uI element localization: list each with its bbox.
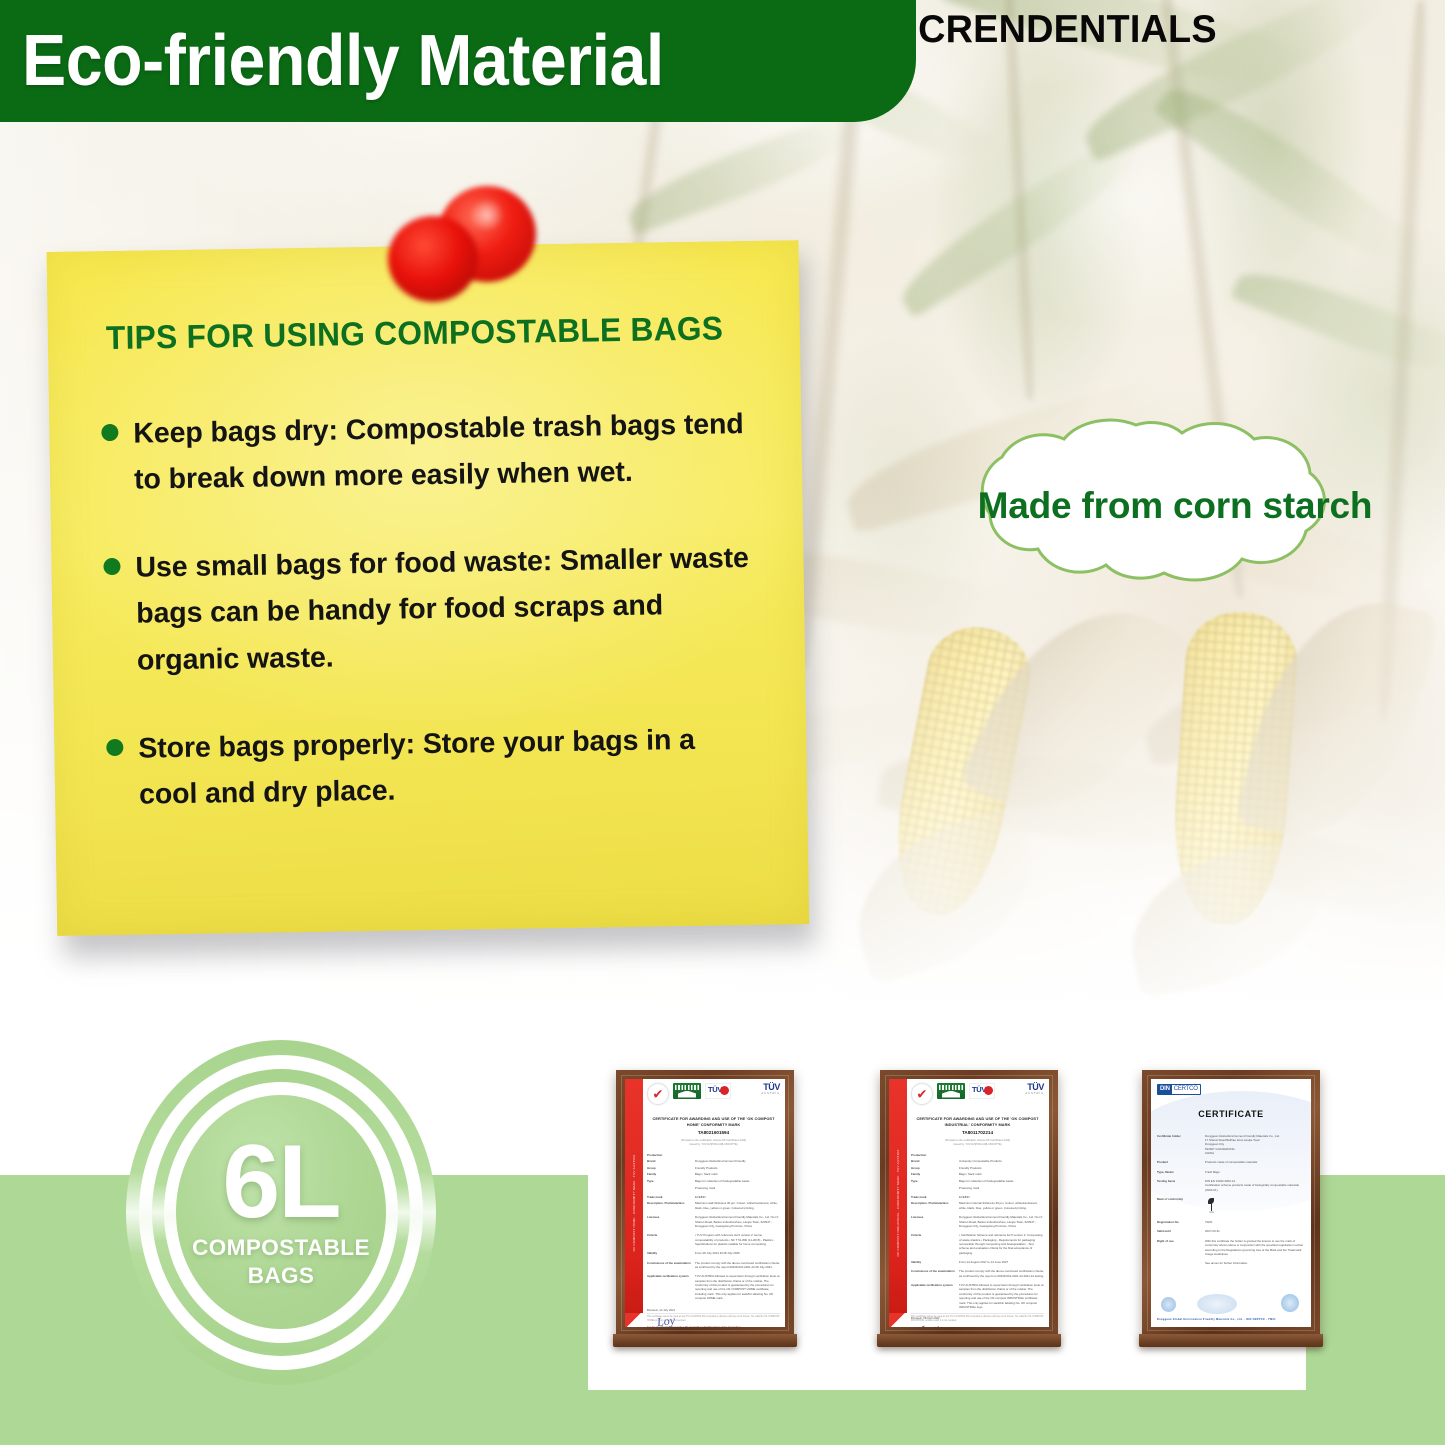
- field-key: Applicable verification system: [911, 1283, 955, 1309]
- field-key: Registration No.: [1157, 1220, 1201, 1224]
- tip-text: Keep bags dry: Compostable trash bags te…: [133, 408, 744, 496]
- logo-house: [942, 1091, 960, 1098]
- table-row: Description / ParticularitiesMaximum int…: [911, 1201, 1044, 1210]
- certificate-meta: (Pursuant to the certification scheme OK…: [647, 1139, 780, 1147]
- field-key: Type, Model: [1157, 1170, 1201, 1174]
- certificate-meta-line2: Issued by: TUV AUSTRIA (AIB-VINCOTTE): [911, 1143, 1044, 1147]
- tuv-brand-mark: TÜV AUSTRIA: [1025, 1083, 1044, 1096]
- tuv-brand-sub: AUSTRIA: [1025, 1092, 1044, 1096]
- din-round-seal-icon: [1281, 1294, 1299, 1312]
- certificate-footer: Dongguan Global Environment Friendly Mat…: [1157, 1318, 1305, 1321]
- stripe-corner: [625, 1313, 643, 1327]
- field-value: Products made of compostable materials: [1205, 1160, 1305, 1164]
- field-value: 7W21: [1205, 1220, 1305, 1224]
- table-row: Criteria• TUV Program with reference lis…: [647, 1233, 780, 1246]
- table-row: BrandDongguan Global Environment Friendl…: [647, 1159, 780, 1163]
- certificate-seals: [1157, 1288, 1305, 1314]
- header-banner: Eco-friendly Material: [0, 0, 916, 122]
- table-row: Trade markEVEBIO: [647, 1195, 780, 1199]
- certificate-number: TA8011702214: [911, 1130, 1044, 1137]
- certificate-logos: TÜV: [647, 1083, 780, 1105]
- din-certco-logo-icon: DIN CERTCO: [1157, 1084, 1201, 1095]
- field-key: Description / Particularities: [647, 1201, 691, 1210]
- certificate-fields: Certificate holderDongguan Global Enviro…: [1157, 1134, 1305, 1265]
- field-value: Bags for collection of biodegradable was…: [695, 1179, 780, 1183]
- certificate-heading: CERTIFICATE: [1157, 1108, 1305, 1122]
- frame-base: [613, 1334, 797, 1347]
- field-value: DIN EN 13432:2000-12 Certification schem…: [1205, 1179, 1305, 1192]
- logo-bars: [675, 1085, 699, 1090]
- certificate-side-stripe: OK COMPOST INDUSTRIAL · CONFORMITY MARK …: [889, 1079, 907, 1327]
- field-value: With this certificate the holder is gran…: [1205, 1239, 1305, 1265]
- certificate-page: DIN CERTCO CERTIFICATE Certificate holde…: [1151, 1079, 1311, 1327]
- field-key: Mark of conformity: [1157, 1197, 1201, 1215]
- logo-bars: [939, 1085, 963, 1090]
- field-value: 7W21: [1205, 1197, 1305, 1215]
- certificate-content: DIN CERTCO CERTIFICATE Certificate holde…: [1151, 1079, 1311, 1272]
- field-value: Bags / Sack mark: [959, 1172, 1044, 1176]
- field-key: Trade mark: [647, 1195, 691, 1199]
- table-row: Applicable verification systemTUV AUSTRI…: [911, 1283, 1044, 1309]
- certificate-content: TÜV TÜV AUSTRIA CERTIFICATE FOR AWARDING…: [643, 1079, 785, 1327]
- tuv-brand-letters: TÜV: [1025, 1083, 1044, 1092]
- field-value: 2027-03-31: [1205, 1229, 1305, 1233]
- field-key: Production: [911, 1153, 955, 1157]
- table-row: ValidityFrom 28 July 2021 till 28 July 2…: [647, 1251, 780, 1255]
- field-key: Trade mark: [911, 1195, 955, 1199]
- certificate-fields: Production BrandDongguan Global Environm…: [647, 1153, 780, 1301]
- table-row: Registration No.7W21: [1157, 1220, 1305, 1224]
- stripe-corner: [889, 1313, 907, 1327]
- table-row: Conclusions of the examinationThe produc…: [911, 1269, 1044, 1278]
- field-value: TUV AUSTRIA followed to supervision thro…: [695, 1274, 780, 1300]
- certificate-din-certco[interactable]: DIN CERTCO CERTIFICATE Certificate holde…: [1142, 1070, 1320, 1336]
- field-key: Conclusions of the examination: [647, 1261, 691, 1270]
- field-value: From 14 August 2017 to 14 June 2027: [959, 1260, 1044, 1264]
- field-key: Licensee: [647, 1215, 691, 1228]
- field-key: Right of use: [1157, 1239, 1201, 1265]
- tuv-brand-sub: AUSTRIA: [761, 1092, 780, 1096]
- certificate-footer: This certificate cannot be used as any T…: [647, 1313, 780, 1323]
- field-value: EVEBIO: [959, 1195, 1044, 1199]
- field-value: Friendly Products: [695, 1166, 780, 1170]
- bullet-icon: [103, 558, 120, 575]
- tip-text: Use small bags for food waste: Smaller w…: [135, 542, 749, 676]
- field-key: Criteria: [911, 1233, 955, 1255]
- table-row: TypeBags for collection of biodegradable…: [647, 1179, 780, 1183]
- bullet-icon: [101, 424, 118, 441]
- note-title: TIPS FOR USING COMPOSTABLE BAGS: [106, 309, 729, 357]
- certificate-fields: Production BrandUniversity Compostable P…: [911, 1153, 1044, 1309]
- ok-compost-logo-icon: [937, 1083, 965, 1099]
- pushpin-highlight: [468, 200, 506, 230]
- field-key: Applicable verification system: [647, 1274, 691, 1300]
- field-key: Type: [911, 1179, 955, 1183]
- certificate-frame: DIN CERTCO CERTIFICATE Certificate holde…: [1142, 1070, 1320, 1336]
- badge-core: 6L COMPOSTABLE BAGS: [176, 1095, 386, 1329]
- badge-size-label: 6L: [222, 1135, 339, 1231]
- field-value: TUV AUSTRIA followed to supervision thro…: [959, 1283, 1044, 1309]
- field-value: Dongguan Global Environment Friendly Mat…: [1205, 1134, 1305, 1156]
- table-row: Producing mark: [911, 1186, 1044, 1190]
- din-logo-left: DIN: [1158, 1085, 1172, 1094]
- table-row: GroupFriendly Products: [647, 1166, 780, 1170]
- stripe-text: OK COMPOST HOME · CONFORMITY MARK · TUV …: [632, 1155, 636, 1252]
- tip-text: Store bags properly: Store your bags in …: [138, 724, 695, 811]
- table-row: TypeBags for collection of biodegradable…: [911, 1179, 1044, 1183]
- certificate-ok-compost-home[interactable]: OK COMPOST HOME · CONFORMITY MARK · TUV …: [616, 1070, 794, 1336]
- certificate-meta: (Pursuant to the certification scheme OK…: [911, 1139, 1044, 1147]
- table-row: Conclusions of the examinationThe produc…: [647, 1261, 780, 1270]
- field-value: • Certification Scheme and reference lis…: [959, 1233, 1044, 1255]
- field-key: Type: [647, 1179, 691, 1183]
- tuv-dot: [720, 1086, 729, 1095]
- field-value: From 28 July 2021 till 28 July 2026: [695, 1251, 780, 1255]
- table-row: LicenseeDongguan Global Environment Frie…: [647, 1215, 780, 1228]
- table-row: Trade markEVEBIO: [911, 1195, 1044, 1199]
- table-row: Criteria• Certification Scheme and refer…: [911, 1233, 1044, 1255]
- tuv-dot: [984, 1086, 993, 1095]
- tuv-brand-mark: TÜV AUSTRIA: [761, 1083, 780, 1096]
- certificate-side-stripe: OK COMPOST HOME · CONFORMITY MARK · TUV …: [625, 1079, 643, 1327]
- certificate-heading: CERTIFICATE FOR AWARDING AND USE OF THE …: [911, 1116, 1044, 1127]
- pushpin-icon: [380, 178, 540, 308]
- certificate-page: OK COMPOST INDUSTRIAL · CONFORMITY MARK …: [889, 1079, 1049, 1327]
- field-value: Trash Bags: [1205, 1170, 1305, 1174]
- din-logo-right: CERTCO: [1172, 1085, 1200, 1094]
- table-row: Valid until2027-03-31: [1157, 1229, 1305, 1233]
- certificate-footer: This certificate cannot be used as any T…: [911, 1313, 1044, 1323]
- stripe-text: OK COMPOST INDUSTRIAL · CONFORMITY MARK …: [896, 1150, 900, 1257]
- vincotte-check-logo-icon: [647, 1083, 669, 1105]
- field-key: [911, 1186, 955, 1190]
- field-value: The product comply with the above mentio…: [959, 1269, 1044, 1278]
- frame-base: [1139, 1334, 1323, 1347]
- field-value: EVEBIO: [695, 1195, 780, 1199]
- badge-subtitle: COMPOSTABLE BAGS: [192, 1234, 370, 1289]
- field-value: [695, 1153, 780, 1157]
- list-item: Keep bags dry: Compostable trash bags te…: [93, 401, 754, 504]
- note-paper: TIPS FOR USING COMPOSTABLE BAGS Keep bag…: [47, 240, 810, 936]
- list-item: Store bags properly: Store your bags in …: [98, 716, 759, 819]
- field-key: Product: [1157, 1160, 1201, 1164]
- corn-starch-callout: Made from corn starch: [922, 418, 1428, 590]
- list-item: Use small bags for food waste: Smaller w…: [95, 535, 757, 684]
- certificate-frame: OK COMPOST INDUSTRIAL · CONFORMITY MARK …: [880, 1070, 1058, 1336]
- field-key: Brand: [647, 1159, 691, 1163]
- tuv-austria-logo-icon: TÜV: [705, 1083, 731, 1099]
- field-key: Conclusions of the examination: [911, 1269, 955, 1278]
- table-row: Producing mark: [647, 1186, 780, 1190]
- logo-house: [678, 1091, 696, 1098]
- certificate-heading: CERTIFICATE FOR AWARDING AND USE OF THE …: [647, 1116, 780, 1127]
- table-row: Right of useWith this certificate the ho…: [1157, 1239, 1305, 1265]
- page-title: Eco-friendly Material: [22, 25, 664, 97]
- field-value: Dongguan Global Environment Friendly: [695, 1159, 780, 1163]
- table-row: GroupFriendly Products: [911, 1166, 1044, 1170]
- field-value: The product comply with the above mentio…: [695, 1261, 780, 1270]
- field-value: University Compostable Products: [959, 1159, 1044, 1163]
- field-key: Certificate holder: [1157, 1134, 1201, 1156]
- field-value: Producing mark: [959, 1186, 1044, 1190]
- field-value: Friendly Products: [959, 1166, 1044, 1170]
- field-key: Licensee: [911, 1215, 955, 1228]
- tips-list: Keep bags dry: Compostable trash bags te…: [93, 401, 761, 818]
- frame-base: [877, 1334, 1061, 1347]
- table-row: LicenseeDongguan Global Environment Frie…: [911, 1215, 1044, 1228]
- seedling-label: 7W21: [1205, 1212, 1218, 1215]
- field-key: Family: [647, 1172, 691, 1176]
- capacity-badge: 6L COMPOSTABLE BAGS: [126, 1040, 436, 1385]
- field-key: Production: [647, 1153, 691, 1157]
- field-value: Dongguan Global Environment Friendly Mat…: [959, 1215, 1044, 1228]
- certificate-ok-compost-industrial[interactable]: OK COMPOST INDUSTRIAL · CONFORMITY MARK …: [880, 1070, 1058, 1336]
- table-row: Description / ParticularitiesMaximum wal…: [647, 1201, 780, 1210]
- tuv-brand-letters: TÜV: [761, 1083, 780, 1092]
- field-value: Bags / Sack mark: [695, 1172, 780, 1176]
- field-value: Maximum wall thickness 30 µm. Colour: wh…: [695, 1201, 780, 1210]
- seedling-stem: [1211, 1203, 1212, 1211]
- field-value: • TUV Program with reference list 5 vers…: [695, 1233, 780, 1246]
- field-key: Group: [647, 1166, 691, 1170]
- field-value: Maximum internal thickness 30 µm. Colour…: [959, 1201, 1044, 1210]
- certificate-content: TÜV TÜV AUSTRIA CERTIFICATE FOR AWARDING…: [907, 1079, 1049, 1327]
- table-row: FamilyBags / Sack mark: [647, 1172, 780, 1176]
- table-row: Type, ModelTrash Bags: [1157, 1170, 1305, 1174]
- table-row: Testing basisDIN EN 13432:2000-12 Certif…: [1157, 1179, 1305, 1192]
- field-key: Criteria: [647, 1233, 691, 1246]
- table-row: BrandUniversity Compostable Products: [911, 1159, 1044, 1163]
- field-key: Description / Particularities: [911, 1201, 955, 1210]
- field-key: Brand: [911, 1159, 955, 1163]
- table-row: ProductProducts made of compostable mate…: [1157, 1160, 1305, 1164]
- accreditation-seal-icon: [1161, 1297, 1176, 1312]
- field-value: Dongguan Global Environment Friendly Mat…: [695, 1215, 780, 1228]
- signature-seal-icon: [1197, 1294, 1237, 1314]
- compostable-seedling-mark-icon: 7W21: [1205, 1198, 1218, 1215]
- field-key: Group: [911, 1166, 955, 1170]
- certificate-frame: OK COMPOST HOME · CONFORMITY MARK · TUV …: [616, 1070, 794, 1336]
- certificate-number: TA8021601594: [647, 1130, 780, 1137]
- bullet-icon: [106, 739, 123, 756]
- field-key: Testing basis: [1157, 1179, 1201, 1192]
- tuv-austria-logo-icon: TÜV: [969, 1083, 995, 1099]
- badge-subtitle-line2: BAGS: [248, 1263, 315, 1288]
- table-row: Production: [911, 1153, 1044, 1157]
- tips-sticky-note: TIPS FOR USING COMPOSTABLE BAGS Keep bag…: [47, 240, 818, 952]
- field-value: Producing mark: [695, 1186, 780, 1190]
- callout-text: Made from corn starch: [922, 420, 1428, 592]
- table-row: Applicable verification systemTUV AUSTRI…: [647, 1274, 780, 1300]
- ok-compost-logo-icon: [673, 1083, 701, 1099]
- field-key: [647, 1186, 691, 1190]
- certificate-logos: TÜV: [911, 1083, 1044, 1105]
- table-row: ValidityFrom 14 August 2017 to 14 June 2…: [911, 1260, 1044, 1264]
- infographic-page: Eco-friendly Material TIPS FOR USING COM…: [0, 0, 1445, 1445]
- certificate-page: OK COMPOST HOME · CONFORMITY MARK · TUV …: [625, 1079, 785, 1327]
- certificate-meta-line2: Issued by: TUV AUSTRIA (AIB-VINCOTTE): [647, 1143, 780, 1147]
- vincotte-check-logo-icon: [911, 1083, 933, 1105]
- table-row: Certificate holderDongguan Global Enviro…: [1157, 1134, 1305, 1156]
- badge-subtitle-line1: COMPOSTABLE: [192, 1235, 370, 1260]
- table-row: Production: [647, 1153, 780, 1157]
- field-key: Valid until: [1157, 1229, 1201, 1233]
- field-key: Validity: [911, 1260, 955, 1264]
- table-row: Mark of conformity 7W21: [1157, 1197, 1305, 1215]
- table-row: FamilyBags / Sack mark: [911, 1172, 1044, 1176]
- pushpin-head-front: [388, 216, 478, 302]
- field-key: Validity: [647, 1251, 691, 1255]
- field-key: Family: [911, 1172, 955, 1176]
- field-value: Bags for collection of biodegradable was…: [959, 1179, 1044, 1183]
- field-value: [959, 1153, 1044, 1157]
